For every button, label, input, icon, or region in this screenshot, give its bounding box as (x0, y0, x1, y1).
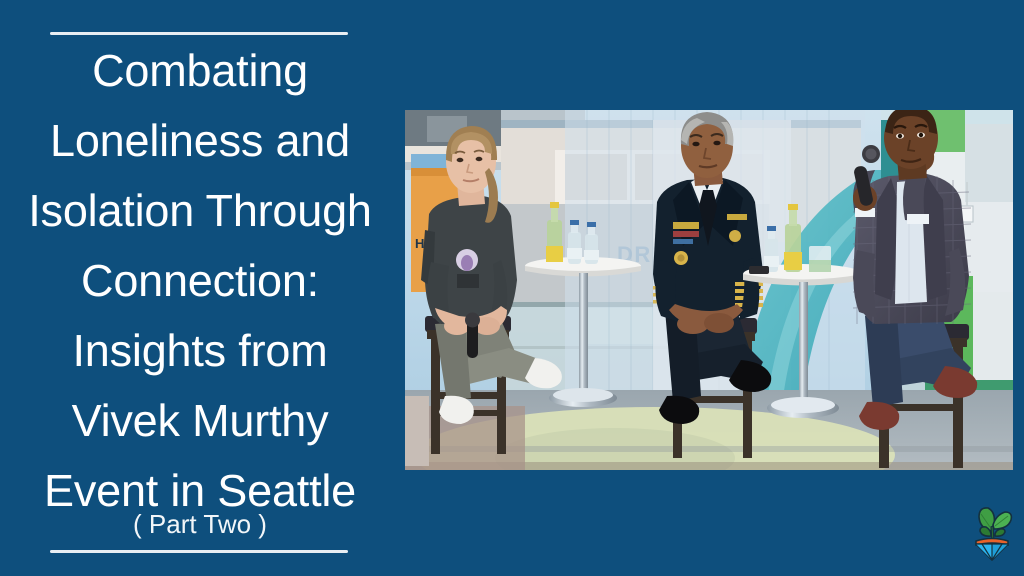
top-divider-rule (50, 32, 348, 35)
title-column: Combating Loneliness and Isolation Throu… (0, 0, 400, 576)
sprout-in-gem-logo (968, 503, 1016, 561)
event-photo: HYDRA DRINK UP (405, 110, 1013, 470)
page-title: Combating Loneliness and Isolation Throu… (0, 36, 400, 526)
title-subtitle: ( Part Two ) (0, 508, 400, 540)
bottom-divider-rule (50, 550, 348, 553)
slide-canvas: Combating Loneliness and Isolation Throu… (0, 0, 1024, 576)
